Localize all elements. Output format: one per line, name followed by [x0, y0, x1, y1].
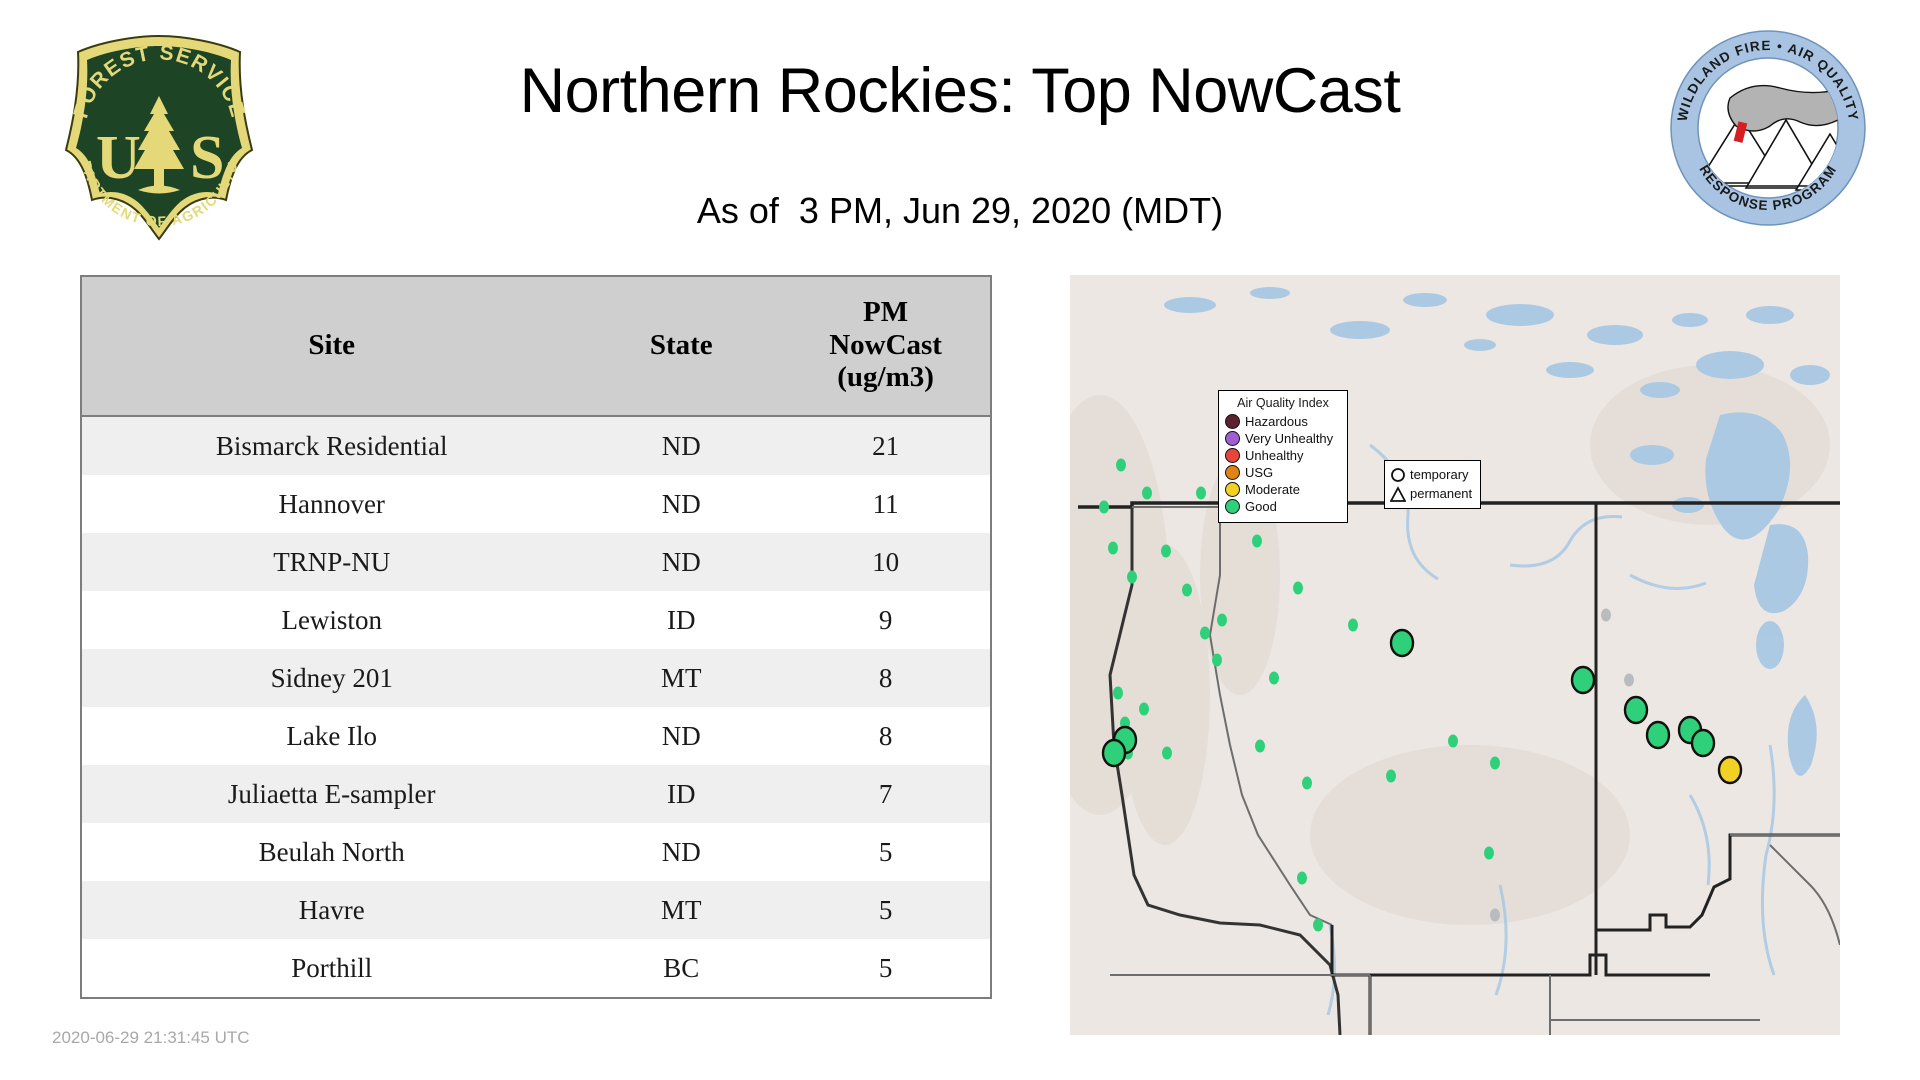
monitor-marker-good-small[interactable] — [1182, 584, 1192, 597]
monitor-marker-good-large[interactable] — [1572, 667, 1594, 693]
state-cell: ID — [581, 765, 781, 823]
table-row: HavreMT5 — [82, 881, 990, 939]
state-cell: ND — [581, 416, 781, 475]
legend-row-moderate: Moderate — [1225, 481, 1341, 498]
monitor-marker-good-small[interactable] — [1099, 501, 1109, 514]
site-cell: Bismarck Residential — [82, 416, 581, 475]
legend-items: HazardousVery UnhealthyUnhealthyUSGModer… — [1225, 413, 1341, 515]
symbol-label-temporary: temporary — [1410, 468, 1469, 481]
monitor-marker-good-small[interactable] — [1255, 740, 1265, 753]
monitor-marker-good-large[interactable] — [1391, 630, 1413, 656]
legend-label: USG — [1245, 466, 1273, 479]
monitor-marker-good-large[interactable] — [1103, 740, 1125, 766]
legend-row-unhealthy: Unhealthy — [1225, 447, 1341, 464]
site-cell: Sidney 201 — [82, 649, 581, 707]
monitor-marker-good-small[interactable] — [1313, 919, 1323, 932]
monitor-marker-good-small[interactable] — [1212, 654, 1222, 667]
monitor-marker-good-small[interactable] — [1484, 847, 1494, 860]
legend-label: Hazardous — [1245, 415, 1308, 428]
pm-nowcast-cell: 5 — [781, 823, 990, 881]
monitor-marker-good-small[interactable] — [1113, 687, 1123, 700]
generation-timestamp: 2020-06-29 21:31:45 UTC — [52, 1028, 250, 1048]
monitor-marker-good-small[interactable] — [1252, 535, 1262, 548]
monitor-marker-good-small[interactable] — [1269, 672, 1279, 685]
pm-nowcast-cell: 5 — [781, 881, 990, 939]
monitor-marker-good-small[interactable] — [1448, 735, 1458, 748]
site-cell: Juliaetta E-sampler — [82, 765, 581, 823]
column-header-pm-nowcast: PM NowCast (ug/m3) — [781, 277, 990, 416]
monitor-marker-good-small[interactable] — [1297, 872, 1307, 885]
monitor-marker-good-small[interactable] — [1293, 582, 1303, 595]
site-cell: Porthill — [82, 939, 581, 997]
column-header-site-label: Site — [308, 329, 355, 361]
legend-label: Unhealthy — [1245, 449, 1304, 462]
page-title: Northern Rockies: Top NowCast — [280, 58, 1640, 124]
permanent-triangle-icon — [1390, 485, 1406, 503]
state-cell: MT — [581, 881, 781, 939]
symbol-label-permanent: permanent — [1410, 487, 1472, 500]
table-row: PorthillBC5 — [82, 939, 990, 997]
monitor-marker-good-small[interactable] — [1217, 614, 1227, 627]
monitor-marker-good-small[interactable] — [1302, 777, 1312, 790]
monitor-marker-good-small[interactable] — [1200, 627, 1210, 640]
column-header-pm-line3: (ug/m3) — [837, 361, 934, 393]
legend-label: Very Unhealthy — [1245, 432, 1333, 445]
state-cell: ND — [581, 707, 781, 765]
monitor-marker-good-small[interactable] — [1161, 545, 1171, 558]
table-header-row: Site State PM NowCast (ug/m3) — [82, 277, 990, 416]
column-header-site: Site — [82, 277, 581, 416]
monitor-marker-good-small[interactable] — [1386, 770, 1396, 783]
state-cell: BC — [581, 939, 781, 997]
air-quality-monitor-map[interactable]: Air Quality Index HazardousVery Unhealth… — [1070, 275, 1840, 1035]
table-row: Sidney 201MT8 — [82, 649, 990, 707]
top-nowcast-table: Site State PM NowCast (ug/m3) Bismarck R… — [82, 277, 990, 997]
monitor-marker-good-small[interactable] — [1108, 542, 1118, 555]
monitor-marker-inactive[interactable] — [1624, 674, 1634, 687]
monitor-marker-good-small[interactable] — [1139, 703, 1149, 716]
site-cell: Hannover — [82, 475, 581, 533]
table-row: TRNP-NUND10 — [82, 533, 990, 591]
monitor-marker-moderate-large[interactable] — [1719, 757, 1741, 783]
monitor-marker-good-large[interactable] — [1647, 722, 1669, 748]
legend-row-very-unhealthy: Very Unhealthy — [1225, 430, 1341, 447]
site-cell: Beulah North — [82, 823, 581, 881]
site-cell: Havre — [82, 881, 581, 939]
state-cell: ND — [581, 533, 781, 591]
legend-swatch-icon — [1225, 482, 1240, 497]
pm-nowcast-cell: 10 — [781, 533, 990, 591]
column-header-pm-line1: PM — [863, 296, 908, 328]
table-row: Lake IloND8 — [82, 707, 990, 765]
top-nowcast-table-container: Site State PM NowCast (ug/m3) Bismarck R… — [80, 275, 992, 999]
monitor-marker-good-large[interactable] — [1625, 697, 1647, 723]
legend-swatch-icon — [1225, 499, 1240, 514]
state-cell: MT — [581, 649, 781, 707]
state-cell: ID — [581, 591, 781, 649]
monitor-marker-good-small[interactable] — [1162, 747, 1172, 760]
air-quality-index-legend: Air Quality Index HazardousVery Unhealth… — [1218, 390, 1348, 523]
table-row: HannoverND11 — [82, 475, 990, 533]
legend-row-hazardous: Hazardous — [1225, 413, 1341, 430]
legend-label: Moderate — [1245, 483, 1300, 496]
pm-nowcast-cell: 7 — [781, 765, 990, 823]
usda-forest-service-shield-logo: FOREST SERVICE U S DEPARTMENT OF AGRICUL… — [52, 30, 267, 245]
pm-nowcast-cell: 9 — [781, 591, 990, 649]
state-cell: ND — [581, 475, 781, 533]
legend-row-good: Good — [1225, 498, 1341, 515]
symbol-row-temporary: temporary — [1390, 465, 1472, 484]
state-cell: ND — [581, 823, 781, 881]
monitor-marker-inactive[interactable] — [1490, 909, 1500, 922]
monitor-type-legend: temporary permanent — [1384, 460, 1481, 509]
legend-swatch-icon — [1225, 414, 1240, 429]
monitor-marker-good-small[interactable] — [1116, 459, 1126, 472]
pm-nowcast-cell: 8 — [781, 649, 990, 707]
pm-nowcast-cell: 5 — [781, 939, 990, 997]
symbol-row-permanent: permanent — [1390, 484, 1472, 503]
monitor-marker-good-large[interactable] — [1692, 730, 1714, 756]
monitor-marker-good-small[interactable] — [1127, 571, 1137, 584]
table-row: Beulah NorthND5 — [82, 823, 990, 881]
monitor-marker-good-small[interactable] — [1490, 757, 1500, 770]
site-cell: Lake Ilo — [82, 707, 581, 765]
legend-row-usg: USG — [1225, 464, 1341, 481]
table-row: Bismarck ResidentialND21 — [82, 416, 990, 475]
temporary-circle-icon — [1390, 466, 1406, 484]
legend-swatch-icon — [1225, 465, 1240, 480]
column-header-state: State — [581, 277, 781, 416]
site-cell: TRNP-NU — [82, 533, 581, 591]
table-body: Bismarck ResidentialND21HannoverND11TRNP… — [82, 416, 990, 997]
pm-nowcast-cell: 8 — [781, 707, 990, 765]
legend-label: Good — [1245, 500, 1277, 513]
table-header: Site State PM NowCast (ug/m3) — [82, 277, 990, 416]
wildland-fire-air-quality-seal-logo: WILDLAND FIRE • AIR QUALITY RESPONSE PRO… — [1668, 28, 1868, 228]
legend-swatch-icon — [1225, 431, 1240, 446]
table-row: LewistonID9 — [82, 591, 990, 649]
column-header-pm-line2: NowCast — [829, 329, 942, 361]
monitor-marker-good-small[interactable] — [1348, 619, 1358, 632]
page-subtitle: As of 3 PM, Jun 29, 2020 (MDT) — [280, 190, 1640, 232]
monitor-marker-inactive[interactable] — [1601, 609, 1611, 622]
pm-nowcast-cell: 21 — [781, 416, 990, 475]
monitor-marker-good-small[interactable] — [1142, 487, 1152, 500]
monitor-marker-good-small[interactable] — [1196, 487, 1206, 500]
legend-swatch-icon — [1225, 448, 1240, 463]
site-cell: Lewiston — [82, 591, 581, 649]
table-row: Juliaetta E-samplerID7 — [82, 765, 990, 823]
nowcast-report-page: FOREST SERVICE U S DEPARTMENT OF AGRICUL… — [0, 0, 1920, 1080]
legend-title: Air Quality Index — [1225, 396, 1341, 410]
column-header-state-label: State — [650, 329, 713, 361]
pm-nowcast-cell: 11 — [781, 475, 990, 533]
